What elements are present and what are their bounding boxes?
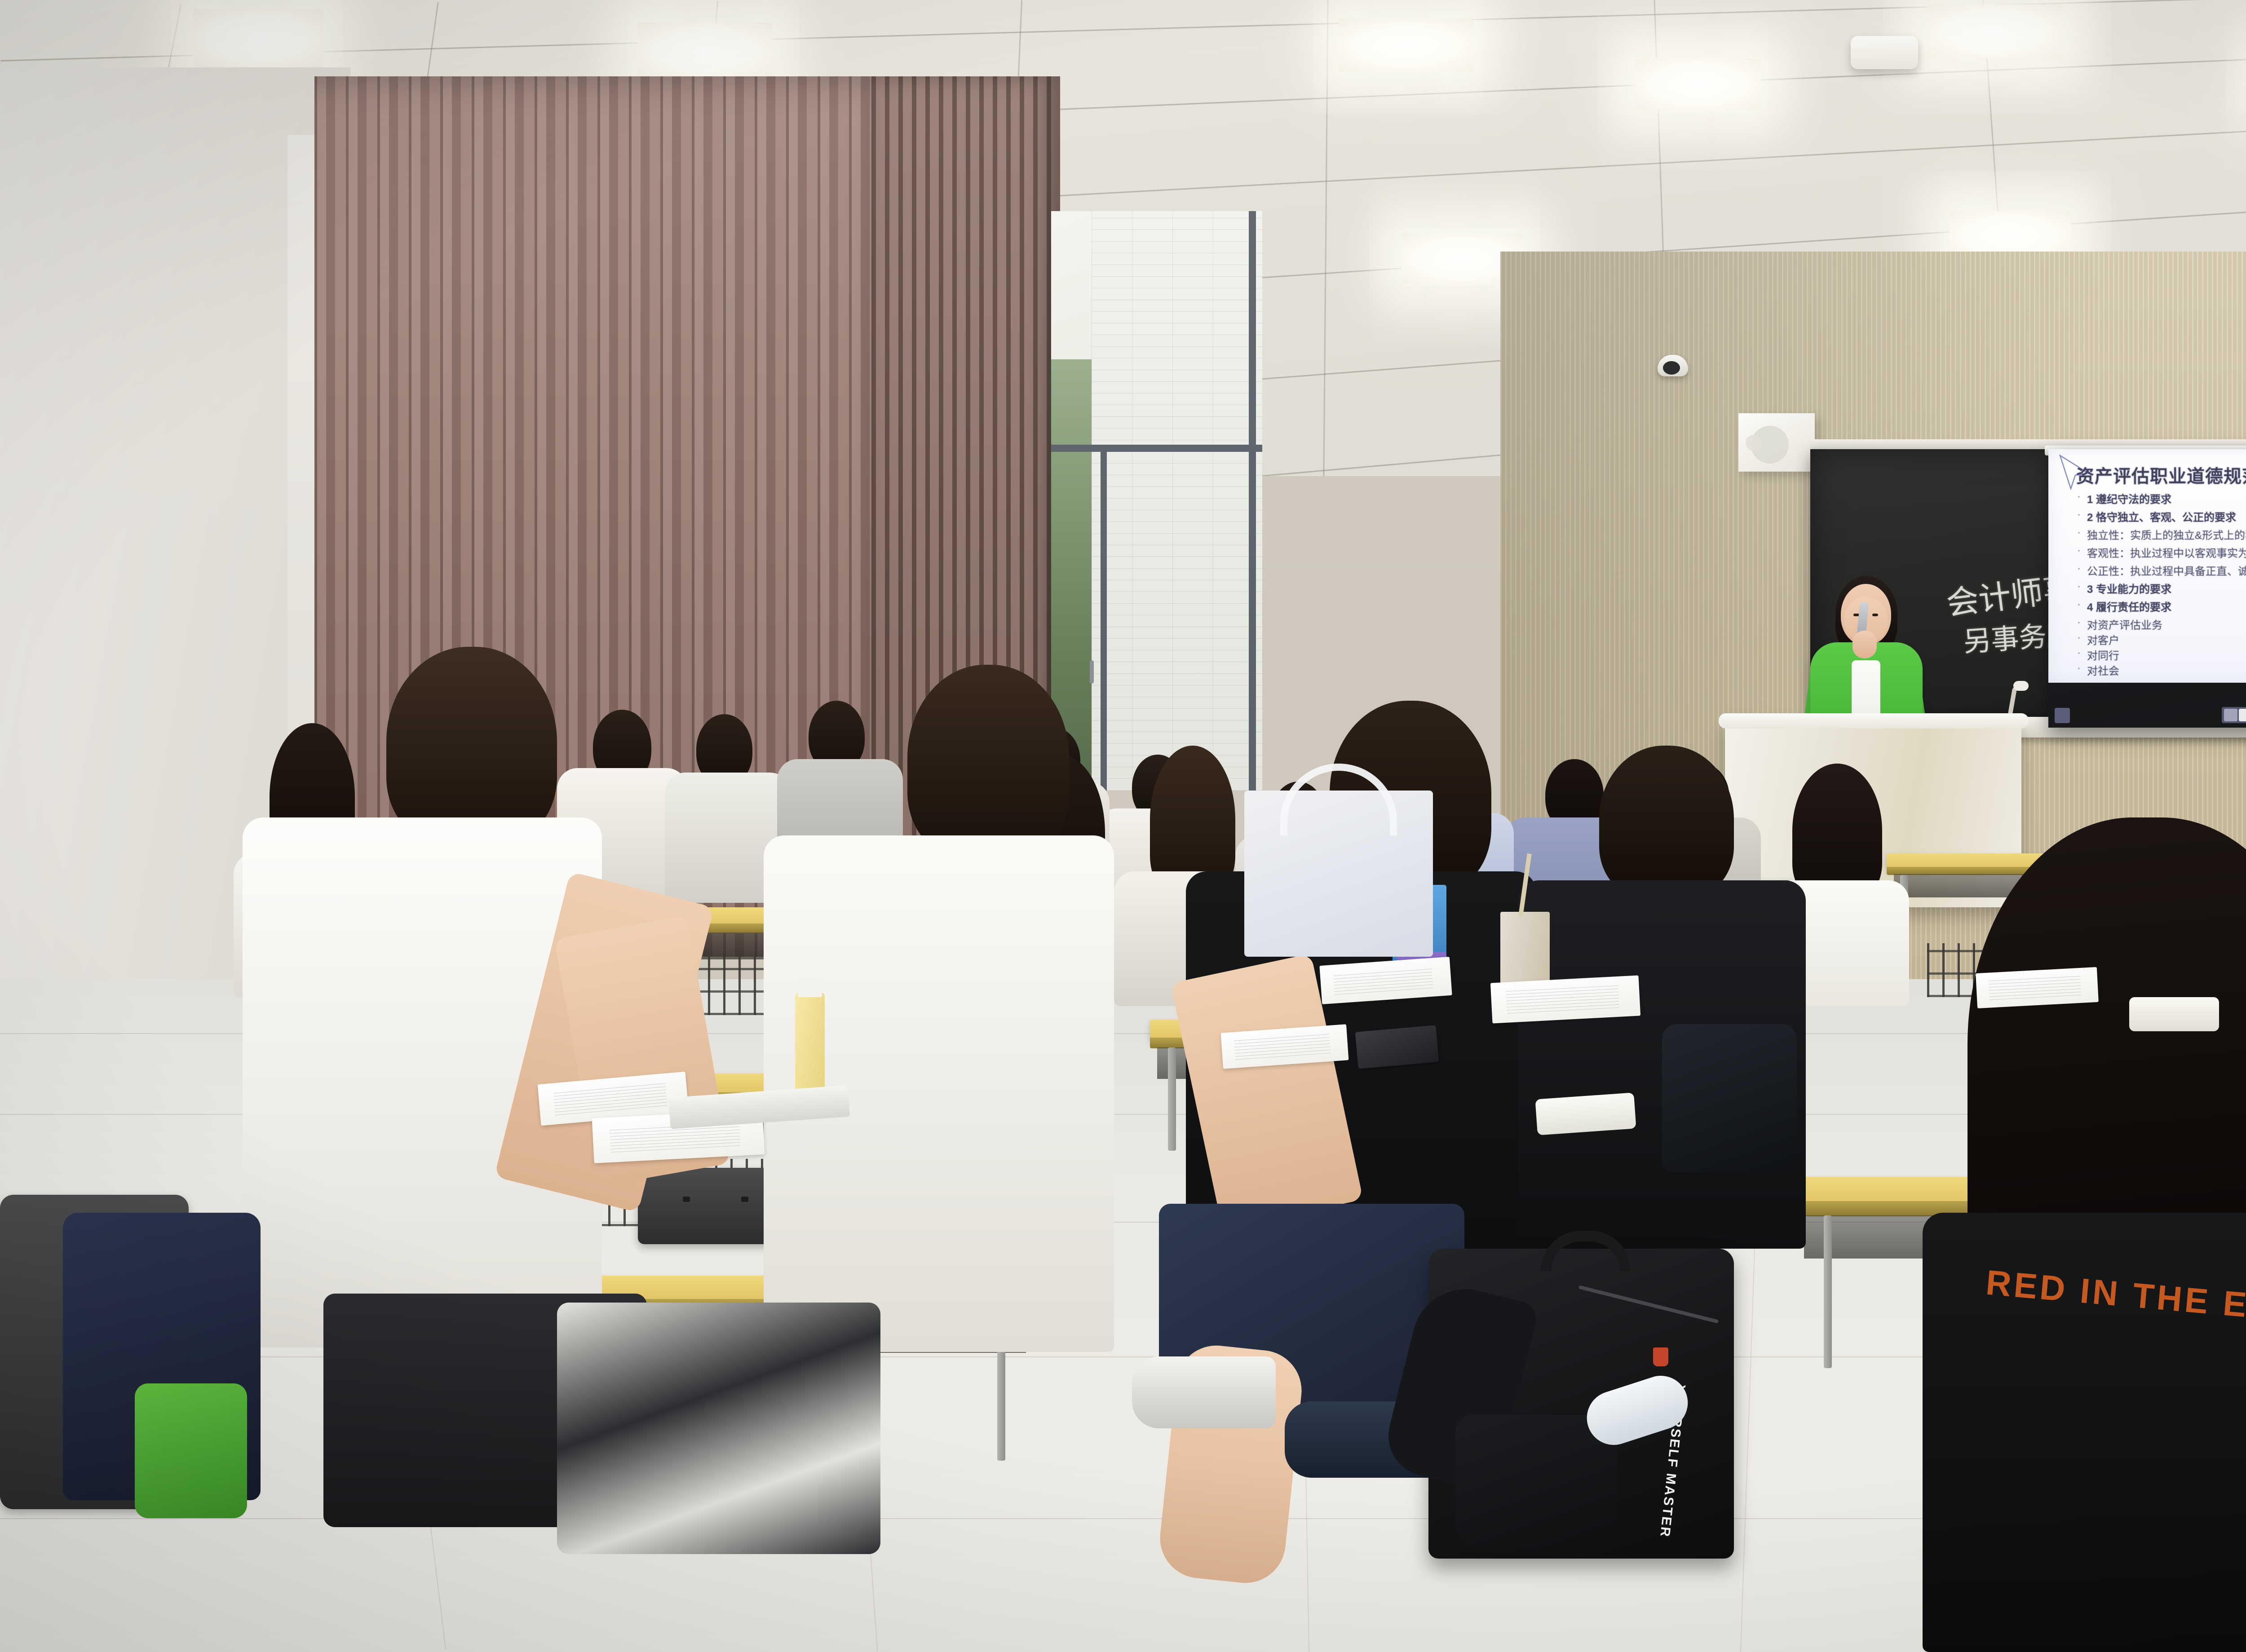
- slide-bullet: 4 履行责任的要求: [2087, 598, 2171, 614]
- notebook[interactable]: [1976, 967, 2099, 1008]
- ceiling-light-panel: [1339, 18, 1473, 72]
- classroom-scene: 诚信资产评估 会计师事务所 徐汇的课 另事务所 审计业务 资产评估职业道德规范 …: [0, 0, 2246, 1652]
- window-handle[interactable]: [1090, 660, 1094, 684]
- student-head-foreground: [386, 647, 557, 844]
- teacher-hand: [1853, 631, 1877, 658]
- slide-bullet: 对资产评估业务: [2087, 616, 2162, 632]
- student-shorts: [557, 1303, 880, 1554]
- window-mullion: [1101, 445, 1107, 791]
- wall-speaker-left: [1738, 413, 1815, 472]
- backpack[interactable]: YOURSELF MASTER: [1428, 1249, 1734, 1559]
- bottle-cap[interactable]: [798, 980, 822, 997]
- student-head-foreground: [907, 665, 1069, 858]
- slide-bullet: 公正性：执业过程中具备正直、诚实的品质: [2087, 562, 2246, 578]
- slide-bullet: 对社会: [2087, 662, 2119, 678]
- student-hair: [1792, 764, 1882, 898]
- window-view-brick-building: [1092, 211, 1262, 791]
- window: [1051, 211, 1262, 791]
- projected-slide[interactable]: 资产评估职业道德规范 p297-301 课件编号 466556 1 遵纪守法的要…: [2048, 449, 2246, 683]
- lectern-top: [1719, 713, 2029, 729]
- ceiling-light-panel: [638, 22, 773, 79]
- slide-bullet: 客观性：执业过程中以客观事实为依据: [2087, 544, 2246, 560]
- ceiling-wifi-ap-icon: [1851, 36, 1918, 69]
- notebook[interactable]: [1490, 975, 1640, 1023]
- slide-bullet: 1 遵纪守法的要求: [2087, 490, 2171, 506]
- bag-accent: [135, 1383, 247, 1518]
- ceiling-light-panel: [193, 9, 323, 67]
- slide-bullet: 3 专业能力的要求: [2087, 580, 2171, 596]
- slide-bullet: 2 恪守独立、客观、公正的要求: [2087, 508, 2236, 524]
- interactive-flat-panel[interactable]: 资产评估职业道德规范 p297-301 课件编号 466556 1 遵纪守法的要…: [2048, 449, 2246, 728]
- student-shoe-icon: [1132, 1356, 1276, 1428]
- backpack-zipper[interactable]: [1578, 1285, 1719, 1323]
- slide-bullet: 对客户: [2087, 632, 2119, 647]
- ceiling-light-panel: [1635, 58, 1761, 110]
- smartphone[interactable]: [1355, 1025, 1439, 1069]
- podium-mic-head-icon: [2013, 681, 2029, 691]
- backpack[interactable]: [1662, 1024, 1797, 1172]
- backpack-logo-icon: [1653, 1347, 1668, 1366]
- student-head-foreground: [1599, 746, 1734, 898]
- ceiling-light-panel: [1927, 4, 2062, 58]
- slide-bullet: 对同行: [2087, 647, 2119, 663]
- tissue-pack[interactable]: [1535, 1092, 1636, 1135]
- tissue-pack[interactable]: [2129, 997, 2219, 1031]
- water-bottle[interactable]: [795, 993, 825, 1096]
- slide-bullet: 独立性：实质上的独立&形式上的独立: [2087, 526, 2246, 542]
- slide-title: 资产评估职业道德规范 p297-301: [2076, 462, 2246, 488]
